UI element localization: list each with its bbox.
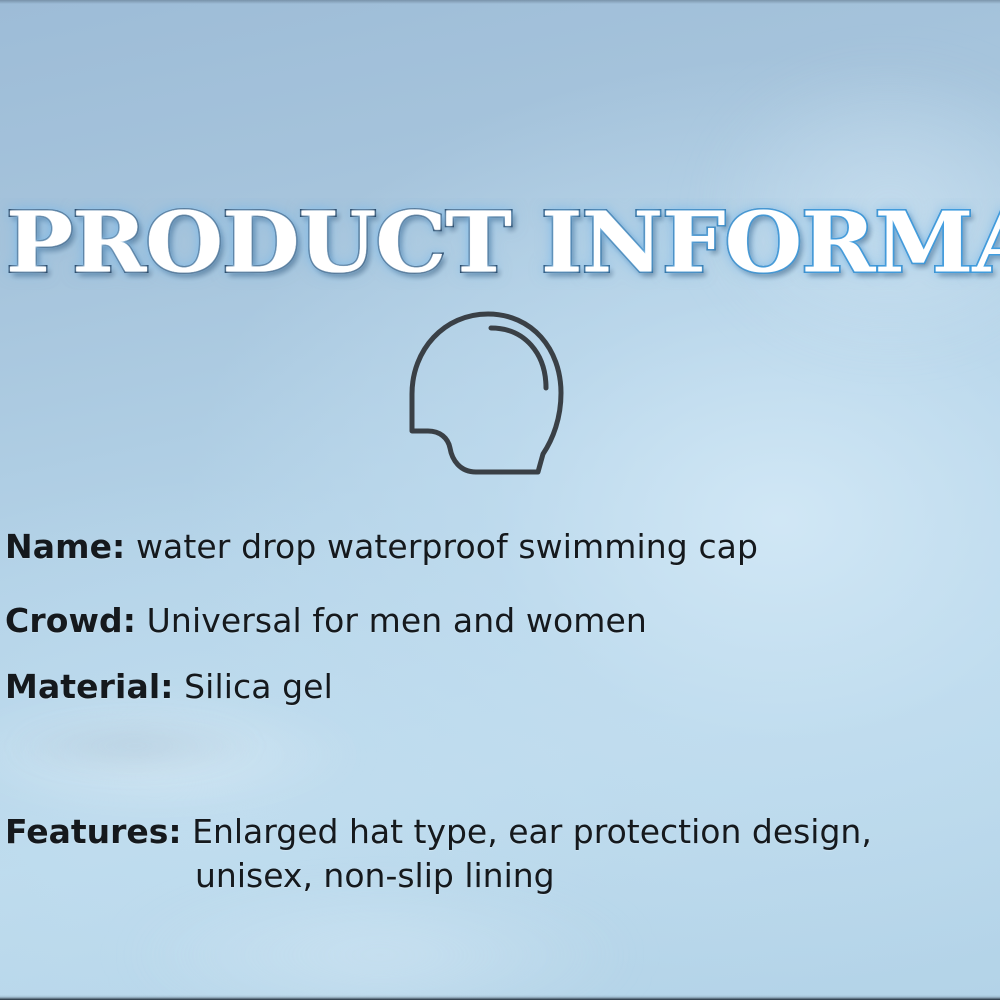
spec-value-name: water drop waterproof swimming cap xyxy=(136,527,758,566)
spec-value-crowd: Universal for men and women xyxy=(147,601,647,640)
page-title-outline: PRODUCT INFORMATION xyxy=(6,198,1000,288)
spec-label-material: Material: xyxy=(5,667,174,706)
page-title: PRODUCT INFORMATION PRODUCT INFORMATION … xyxy=(0,198,1000,290)
spec-label-name: Name: xyxy=(5,527,125,566)
spec-label-features: Features: xyxy=(5,812,182,851)
top-edge-shadow xyxy=(0,0,1000,4)
spec-label-crowd: Crowd: xyxy=(5,601,136,640)
cloud-shadow-lower-left xyxy=(10,716,260,776)
cloud-highlight-bottom xyxy=(120,880,640,1000)
spec-row-material: Material: Silica gel xyxy=(5,667,333,706)
swimming-cap-outline xyxy=(412,314,561,472)
spec-row-crowd: Crowd: Universal for men and women xyxy=(5,601,647,640)
spec-row-name: Name: water drop waterproof swimming cap xyxy=(5,527,758,566)
bottom-edge-shadow xyxy=(0,995,1000,1000)
product-information-slide: PRODUCT INFORMATION PRODUCT INFORMATION … xyxy=(0,0,1000,1000)
spec-row-features: Features: Enlarged hat type, ear protect… xyxy=(5,810,985,898)
cloud-highlight-lower-left xyxy=(0,690,370,820)
spec-value-features-line1: Enlarged hat type, ear protection design… xyxy=(192,812,872,851)
spec-value-material: Silica gel xyxy=(184,667,333,706)
swimming-cap-icon xyxy=(398,300,578,490)
spec-value-features-line2: unisex, non-slip lining xyxy=(5,854,985,898)
